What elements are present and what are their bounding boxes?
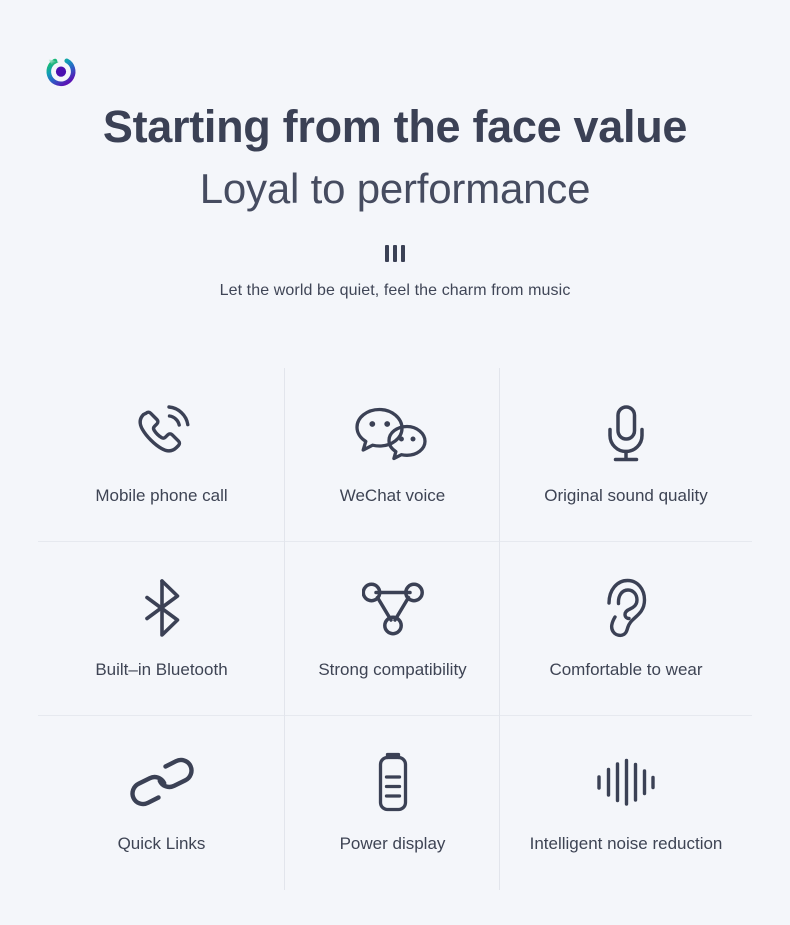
sound-wave-icon <box>595 751 657 813</box>
ear-icon <box>602 577 650 639</box>
feature-label: WeChat voice <box>340 485 446 507</box>
feature-cell-mobile-phone-call: Mobile phone call <box>38 368 285 542</box>
feature-cell-quick-links: Quick Links <box>38 716 285 890</box>
feature-grid: Mobile phone call WeChat voice <box>38 368 752 890</box>
feature-label: Built–in Bluetooth <box>95 659 227 681</box>
feature-cell-intelligent-noise-reduction: Intelligent noise reduction <box>500 716 752 890</box>
feature-label: Strong compatibility <box>318 659 466 681</box>
hero-section: Starting from the face value Loyal to pe… <box>0 96 790 218</box>
divider-bar <box>385 245 389 262</box>
page-title: Starting from the face value <box>0 96 790 158</box>
product-feature-page: Starting from the face value Loyal to pe… <box>0 0 790 925</box>
microphone-icon <box>603 403 649 465</box>
divider-bar <box>393 245 397 262</box>
divider-bar <box>401 245 405 262</box>
bluetooth-icon <box>138 577 186 639</box>
feature-label: Comfortable to wear <box>549 659 702 681</box>
feature-cell-strong-compatibility: Strong compatibility <box>285 542 500 716</box>
three-bars-divider-icon <box>0 245 790 262</box>
brand-logo <box>44 54 78 88</box>
wechat-bubbles-icon <box>354 403 432 465</box>
feature-cell-original-sound-quality: Original sound quality <box>500 368 752 542</box>
feature-label: Power display <box>340 833 446 855</box>
battery-icon <box>373 751 413 813</box>
feature-label: Quick Links <box>118 833 206 855</box>
chain-link-icon <box>129 751 195 813</box>
network-nodes-icon <box>362 577 424 639</box>
feature-label: Original sound quality <box>544 485 707 507</box>
feature-label: Intelligent noise reduction <box>530 833 723 855</box>
feature-label: Mobile phone call <box>95 485 227 507</box>
page-subtitle: Loyal to performance <box>0 160 790 218</box>
feature-cell-comfortable-to-wear: Comfortable to wear <box>500 542 752 716</box>
feature-cell-wechat-voice: WeChat voice <box>285 368 500 542</box>
tagline: Let the world be quiet, feel the charm f… <box>0 282 790 300</box>
feature-cell-power-display: Power display <box>285 716 500 890</box>
feature-cell-built-in-bluetooth: Built–in Bluetooth <box>38 542 285 716</box>
circular-gradient-logo-icon <box>44 54 78 88</box>
phone-call-icon <box>131 403 193 465</box>
